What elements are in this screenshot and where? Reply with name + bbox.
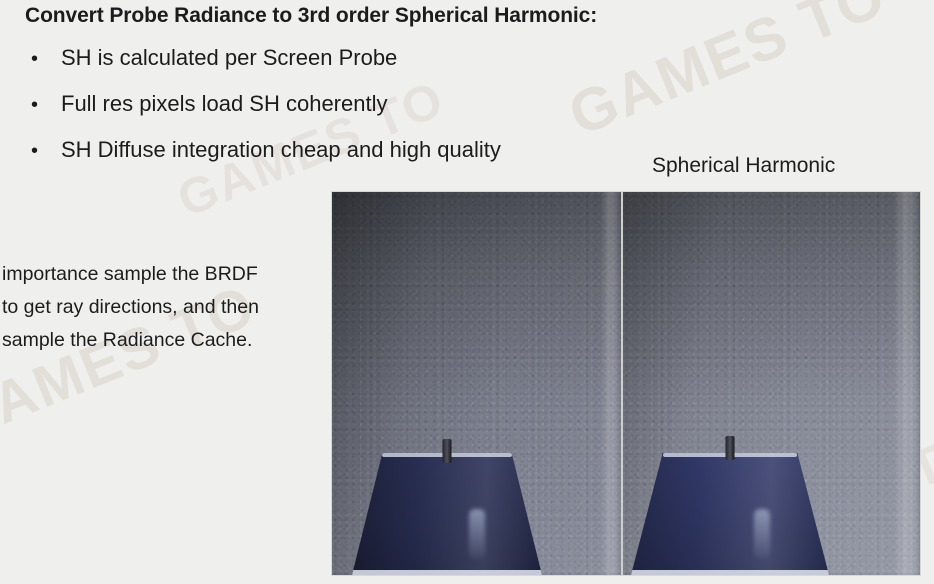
lamp-shade-rim-bottom [631,570,829,575]
floor-lamp [352,453,542,575]
lamp-pole-joint [726,436,735,460]
floor-lamp [631,453,829,575]
side-paragraph-line: to get ray directions, and then [2,291,332,324]
bullet-text: SH Diffuse integration cheap and high qu… [61,137,501,163]
figure-panel-reference [332,192,621,575]
bullet-marker-icon: • [26,49,61,69]
figure-panel-spherical-harmonic [623,192,920,575]
wall-corner-highlight [601,192,621,575]
lamp-shade [352,453,542,575]
lamp-shade-highlight [754,509,770,559]
slide-content: Convert Probe Radiance to 3rd order Sphe… [0,0,934,584]
figure-comparison [332,192,920,575]
side-paragraph-line: sample the Radiance Cache. [2,324,332,357]
bullet-text: Full res pixels load SH coherently [61,91,387,117]
lamp-shade-rim-bottom [352,570,542,575]
slide-title: Convert Probe Radiance to 3rd order Sphe… [25,4,597,28]
bullet-item: • Full res pixels load SH coherently [26,91,646,117]
bullet-item: • SH Diffuse integration cheap and high … [26,137,646,163]
bullet-marker-icon: • [26,141,61,161]
bullet-marker-icon: • [26,95,61,115]
figure-caption: Spherical Harmonic [652,154,835,178]
bullet-list: • SH is calculated per Screen Probe • Fu… [26,45,646,183]
bullet-item: • SH is calculated per Screen Probe [26,45,646,71]
lamp-shade [631,453,829,575]
side-paragraph-line: importance sample the BRDF [2,258,332,291]
lamp-shade-highlight [469,509,485,559]
bullet-text: SH is calculated per Screen Probe [61,45,397,71]
side-paragraph: importance sample the BRDF to get ray di… [2,258,332,357]
lamp-pole-joint [443,439,452,463]
wall-corner-highlight [894,192,920,575]
